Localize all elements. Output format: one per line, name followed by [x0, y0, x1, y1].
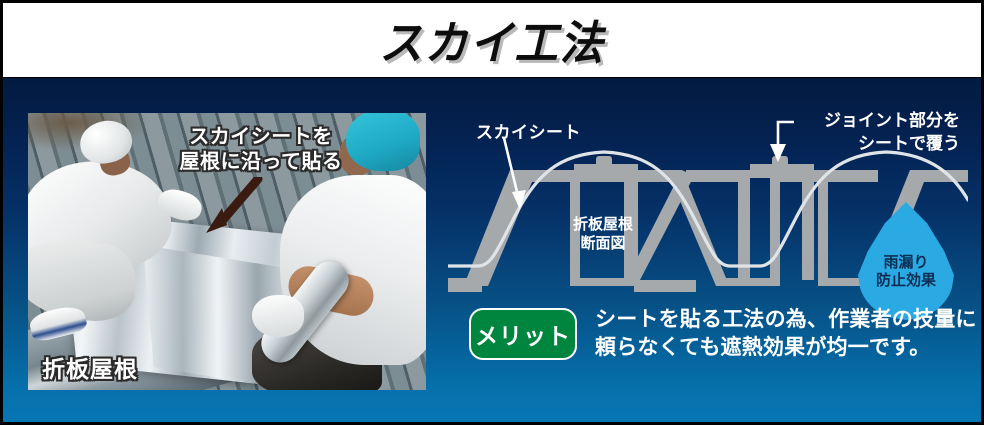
- content-panel: スカイシートを 屋根に沿って貼る 折板屋根: [3, 78, 981, 422]
- roof-section-diagram: スカイシート ジョイント部分を シートで覆う 折板屋根 断面図 雨漏り 防止効果: [448, 100, 968, 300]
- photo-footer-label: 折板屋根: [42, 350, 138, 384]
- label-section-line-2: 断面図: [548, 235, 658, 254]
- down-left-arrow-icon: [196, 177, 270, 235]
- label-roof-section: 折板屋根 断面図: [548, 216, 658, 254]
- merit-badge: メリット: [469, 308, 577, 360]
- water-drop-text: 雨漏り 防止効果: [858, 202, 954, 320]
- drop-line-2: 防止効果: [876, 272, 936, 290]
- header-bar: スカイ工法: [3, 3, 981, 77]
- photo-caption: スカイシートを 屋根に沿って貼る: [146, 125, 376, 175]
- merit-text-line-2: 頼らなくても遮熱効果が均一です。: [595, 334, 977, 362]
- photo-caption-line-1: スカイシートを: [146, 125, 376, 150]
- water-drop-badge: 雨漏り 防止効果: [858, 202, 954, 320]
- label-joint-line-1: ジョイント部分を: [824, 110, 960, 133]
- label-joint-line-2: シートで覆う: [824, 133, 960, 156]
- label-joint-cover: ジョイント部分を シートで覆う: [824, 110, 960, 156]
- graphic-root: スカイ工法 スカイシートを 屋根に沿って貼る: [0, 0, 984, 425]
- photo-caption-line-2: 屋根に沿って貼る: [146, 150, 376, 175]
- drop-line-1: 雨漏り: [883, 254, 928, 272]
- label-sky-sheet: スカイシート: [476, 118, 581, 143]
- merit-description: シートを貼る工法の為、作業者の技量に 頼らなくても遮熱効果が均一です。: [595, 306, 977, 361]
- merit-row: メリット シートを貼る工法の為、作業者の技量に 頼らなくても遮熱効果が均一です。: [469, 306, 977, 361]
- label-section-line-1: 折板屋根: [548, 216, 658, 235]
- page-title: スカイ工法: [379, 7, 605, 73]
- installation-photo: スカイシートを 屋根に沿って貼る 折板屋根: [28, 113, 426, 390]
- merit-text-line-1: シートを貼る工法の為、作業者の技量に: [595, 306, 977, 334]
- worker-right-glove: [252, 295, 304, 337]
